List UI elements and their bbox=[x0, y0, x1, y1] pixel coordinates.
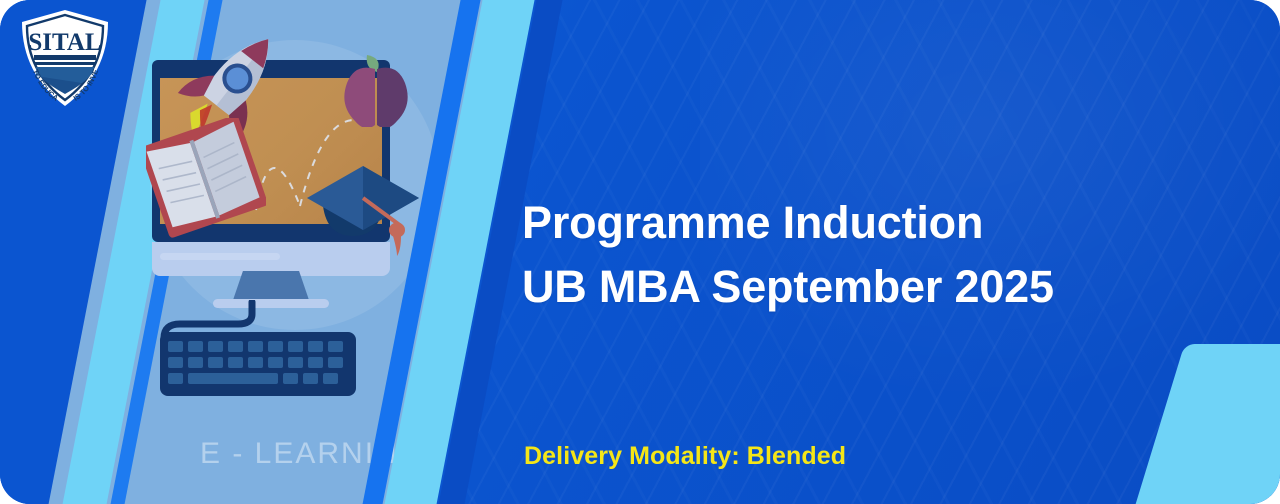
page-title: Programme Induction UB MBA September 202… bbox=[522, 191, 1054, 319]
title-line-2: UB MBA September 2025 bbox=[522, 255, 1054, 319]
delivery-modality-label: Delivery Modality: Blended bbox=[524, 442, 846, 471]
logo-name: SITAL bbox=[28, 29, 101, 56]
sital-logo: SITAL TO EDUCATE IS TO INVEST bbox=[12, 6, 118, 112]
graduation-cap-icon bbox=[305, 158, 425, 262]
open-book-icon bbox=[146, 118, 266, 248]
title-line-1: Programme Induction bbox=[522, 191, 1054, 255]
induction-banner: E - LEARNING bbox=[0, 0, 1280, 504]
keyboard-icon bbox=[160, 332, 356, 396]
apple-icon bbox=[337, 47, 415, 127]
monitor-highlight-bar bbox=[160, 253, 280, 260]
